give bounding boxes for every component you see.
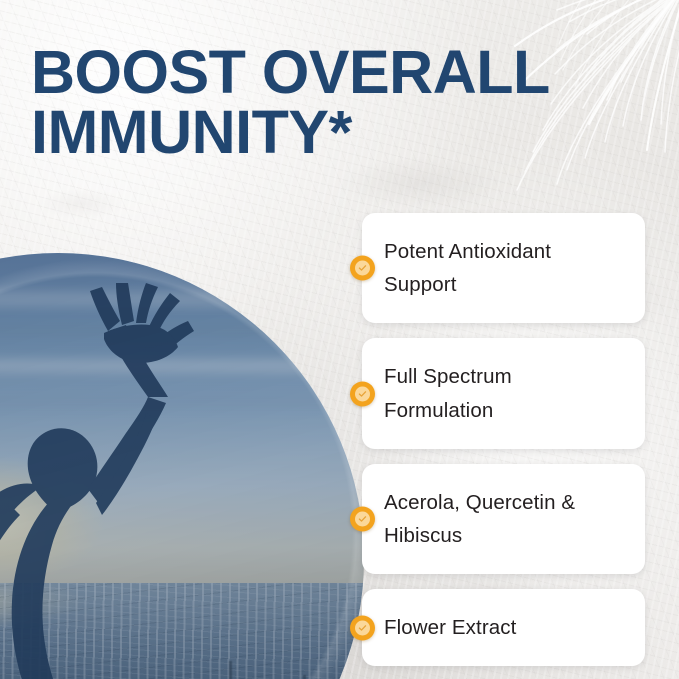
check-mark-icon <box>358 623 367 632</box>
check-mark-icon <box>358 389 367 398</box>
check-mark-icon <box>358 515 367 524</box>
feature-card: Potent Antioxidant Support <box>362 213 645 323</box>
check-circle-icon <box>350 381 375 406</box>
feature-label: Potent Antioxidant Support <box>384 235 625 301</box>
check-circle-icon <box>350 615 375 640</box>
feature-card: Acerola, Quercetin & Hibiscus <box>362 464 645 574</box>
lifestyle-photo <box>0 253 364 679</box>
feature-card: Flower Extract <box>362 589 645 666</box>
feature-card-list: Potent Antioxidant Support Full Spectrum… <box>362 213 645 679</box>
check-circle-icon <box>350 256 375 281</box>
feature-label: Full Spectrum Formulation <box>384 360 625 426</box>
product-feature-poster: BOOST OVERALL IMMUNITY* Potent Antioxida… <box>0 0 679 679</box>
feature-card: Full Spectrum Formulation <box>362 338 645 448</box>
feature-label: Acerola, Quercetin & Hibiscus <box>384 486 625 552</box>
page-title: BOOST OVERALL IMMUNITY* <box>31 43 661 163</box>
feature-label: Flower Extract <box>384 611 516 644</box>
check-circle-icon <box>350 507 375 532</box>
check-mark-icon <box>358 264 367 273</box>
